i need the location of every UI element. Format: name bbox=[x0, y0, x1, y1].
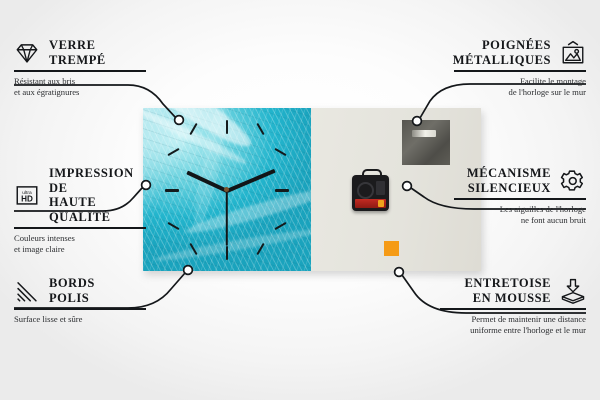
glass-clock-front bbox=[143, 108, 313, 271]
callout-description: Résistant aux bris et aux égratignures bbox=[14, 76, 146, 98]
clock-tick bbox=[256, 123, 264, 135]
mechanism-dial bbox=[357, 182, 374, 199]
callout-header: ultra HD IMPRESSION DE HAUTE QUALITÉ bbox=[14, 166, 146, 224]
callout-description: Facilite le montage de l'horloge sur le … bbox=[454, 76, 586, 98]
callout-title: IMPRESSION DE HAUTE QUALITÉ bbox=[49, 166, 146, 224]
picture-frame-hanger-icon bbox=[560, 40, 586, 66]
clock-tick bbox=[226, 246, 228, 260]
callout-title: VERRE TREMPÉ bbox=[49, 38, 106, 67]
battery bbox=[355, 199, 386, 208]
callout-description: Permet de maintenir une distance uniform… bbox=[440, 314, 586, 336]
callout-rule bbox=[14, 308, 146, 310]
mechanism-block bbox=[376, 181, 385, 195]
callout-description: Surface lisse et sûre bbox=[14, 314, 146, 325]
clock-tick bbox=[189, 123, 197, 135]
callout-description: Couleurs intenses et image claire bbox=[14, 233, 146, 255]
clock-tick bbox=[167, 148, 179, 156]
clock-minute-hand bbox=[226, 169, 275, 193]
clock-tick bbox=[274, 148, 286, 156]
callout-title: MÉCANISME SILENCIEUX bbox=[467, 166, 551, 195]
callout-bords-polis: BORDS POLIS Surface lisse et sûre bbox=[14, 276, 146, 325]
callout-title: POIGNÉES MÉTALLIQUES bbox=[453, 38, 551, 67]
clock-face bbox=[143, 108, 311, 271]
callout-mecanisme-silencieux: MÉCANISME SILENCIEUX Les aiguilles de l'… bbox=[454, 166, 586, 226]
clock-tick bbox=[189, 243, 197, 255]
clock-tick bbox=[274, 222, 286, 230]
ultra-hd-icon: ultra HD bbox=[14, 182, 40, 208]
clock-second-hand bbox=[226, 191, 228, 246]
diamond-icon bbox=[14, 40, 40, 66]
callout-entretoise-en-mousse: ENTRETOISE EN MOUSSE Permet de maintenir… bbox=[440, 276, 586, 336]
hanger-slot bbox=[412, 130, 436, 137]
callout-rule bbox=[454, 198, 586, 200]
callout-verre-trempe: VERRE TREMPÉ Résistant aux bris et aux é… bbox=[14, 38, 146, 98]
callout-rule bbox=[440, 308, 586, 310]
callout-header: VERRE TREMPÉ bbox=[14, 38, 146, 67]
callout-rule bbox=[14, 227, 146, 229]
callout-description: Les aiguilles de l'horloge ne font aucun… bbox=[454, 204, 586, 226]
foam-shadow bbox=[393, 244, 405, 258]
infographic-canvas: VERRE TREMPÉ Résistant aux bris et aux é… bbox=[0, 0, 600, 400]
foam-spacer-pad bbox=[384, 241, 399, 256]
callout-impression-hd: ultra HD IMPRESSION DE HAUTE QUALITÉ Cou… bbox=[14, 166, 146, 255]
polished-edges-icon bbox=[14, 278, 40, 304]
callout-header: ENTRETOISE EN MOUSSE bbox=[440, 276, 586, 305]
gear-icon bbox=[560, 168, 586, 194]
clock-center-cap bbox=[224, 187, 229, 192]
metal-hanger-bracket bbox=[402, 120, 450, 165]
callout-title: BORDS POLIS bbox=[49, 276, 95, 305]
callout-header: POIGNÉES MÉTALLIQUES bbox=[454, 38, 586, 67]
clock-tick bbox=[275, 189, 289, 192]
clock-mechanism bbox=[352, 175, 389, 211]
callout-title: ENTRETOISE EN MOUSSE bbox=[464, 276, 551, 305]
callout-poignees-metalliques: POIGNÉES MÉTALLIQUES Facilite le montage… bbox=[454, 38, 586, 98]
clock-tick bbox=[167, 222, 179, 230]
callout-rule bbox=[14, 70, 146, 72]
clock-tick bbox=[165, 189, 179, 192]
callout-header: BORDS POLIS bbox=[14, 276, 146, 305]
callout-rule bbox=[454, 70, 586, 72]
mechanism-hook bbox=[362, 169, 382, 180]
product-photo bbox=[143, 108, 481, 271]
svg-text:HD: HD bbox=[21, 195, 33, 204]
clock-tick bbox=[256, 243, 264, 255]
clock-tick bbox=[226, 120, 228, 134]
battery-terminal bbox=[378, 200, 384, 207]
callout-header: MÉCANISME SILENCIEUX bbox=[454, 166, 586, 195]
clock-hour-hand bbox=[186, 171, 228, 193]
foam-spacer-arrow-icon bbox=[560, 278, 586, 304]
